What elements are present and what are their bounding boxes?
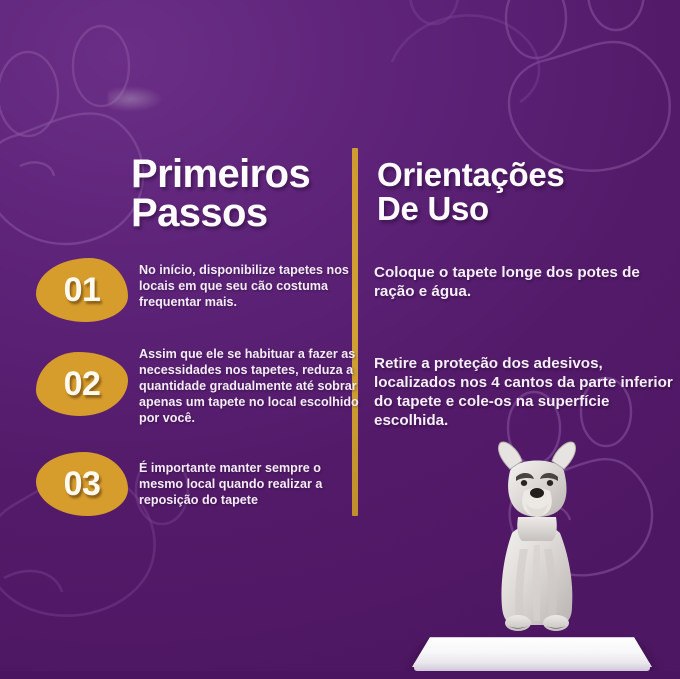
right-heading-line-1: Orientações	[377, 158, 667, 192]
paw-print-icon	[380, 0, 560, 126]
step-number-badge: 03	[36, 452, 128, 516]
step-description: No início, disponibilize tapetes nos loc…	[139, 262, 361, 310]
product-photo	[408, 411, 680, 679]
background-smudge	[108, 86, 164, 112]
right-column-heading: Orientações De Uso	[377, 158, 667, 225]
bottom-bar	[0, 671, 680, 679]
left-heading-line-2: Passos	[131, 194, 346, 233]
poster-canvas: Primeiros Passos Orientações De Uso 01 N…	[0, 0, 680, 679]
step-number-badge: 02	[36, 352, 128, 416]
usage-instruction: Coloque o tapete longe dos potes de raçã…	[374, 264, 674, 302]
step-description: É importante manter sempre o mesmo local…	[139, 460, 361, 508]
left-heading-line-1: Primeiros	[131, 155, 346, 194]
right-heading-line-2: De Uso	[377, 192, 667, 226]
step-number-badge: 01	[36, 258, 128, 322]
schnauzer-dog-icon	[470, 437, 602, 643]
left-column-heading: Primeiros Passos	[131, 155, 346, 233]
step-description: Assim que ele se habituar a fazer as nec…	[139, 346, 361, 427]
training-pad-edge	[414, 663, 650, 671]
